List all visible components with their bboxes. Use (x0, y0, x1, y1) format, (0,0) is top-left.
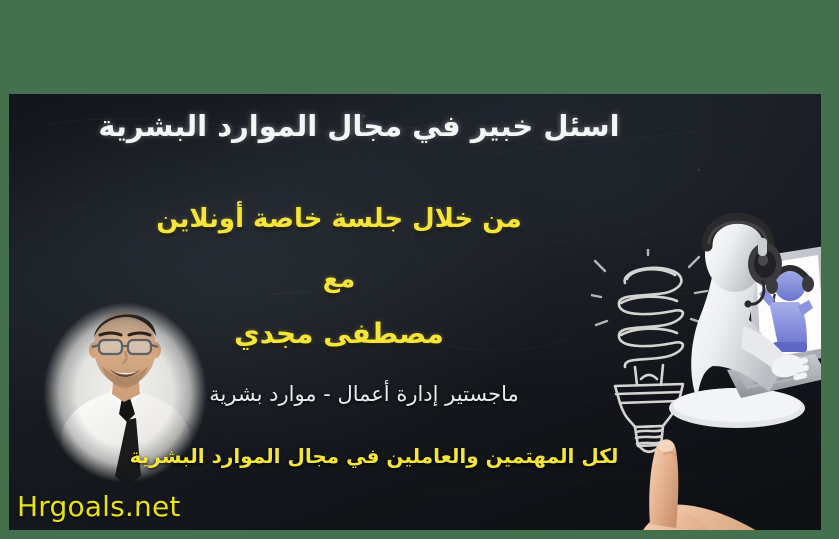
session-type-line: من خلال جلسة خاصة أونلاين (69, 206, 609, 232)
chalkboard-panel: اسئل خبير في مجال الموارد البشرية من خلا… (9, 94, 821, 530)
site-watermark[interactable]: Hrgoals.net (17, 490, 181, 523)
speaker-credentials: ماجستير إدارة أعمال - موارد بشرية (64, 384, 664, 405)
page-title: اسئل خبير في مجال الموارد البشرية (9, 112, 709, 141)
promo-banner: اسئل خبير في مجال الموارد البشرية من خلا… (0, 0, 839, 539)
with-label: مع (69, 266, 609, 291)
target-audience-line: لكل المهتمين والعاملين في مجال الموارد ا… (64, 446, 684, 466)
speaker-name: مصطفى مجدي (69, 320, 609, 348)
